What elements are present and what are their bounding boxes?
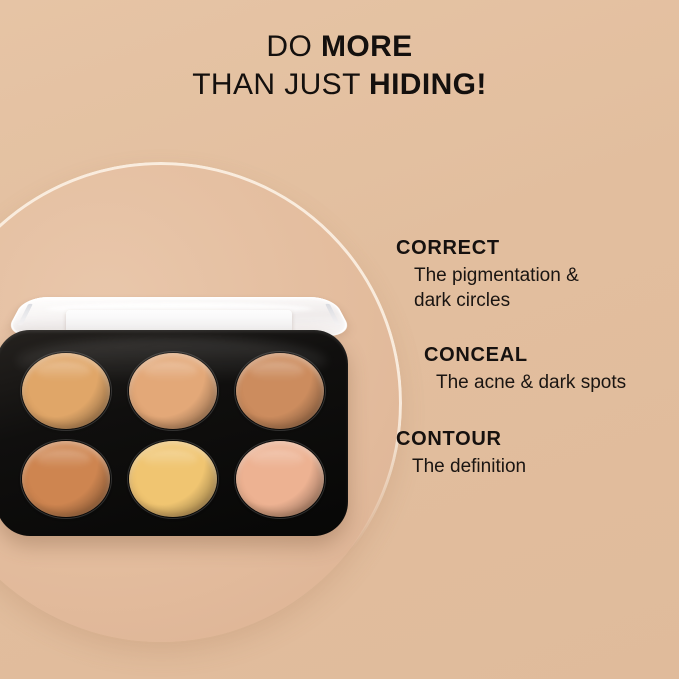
- headline-line-1-plain: DO: [266, 30, 321, 63]
- benefit-conceal: CONCEAL The acne & dark spots: [392, 343, 676, 395]
- headline-line-2-bold: HIDING!: [369, 68, 487, 101]
- palette-pan: [234, 440, 326, 518]
- palette-pan-rim: [127, 351, 219, 431]
- palette-pan: [20, 440, 112, 518]
- benefit-correct-title: CORRECT: [396, 236, 676, 260]
- palette-pan: [127, 352, 219, 430]
- benefit-conceal-description: The acne & dark spots: [424, 370, 676, 395]
- benefit-contour: CONTOUR The definition: [392, 427, 676, 479]
- headline-line-2: THAN JUST HIDING!: [0, 66, 679, 104]
- palette-lid-edge-right: [325, 304, 340, 325]
- benefit-correct-description-line-2: dark circles: [414, 288, 676, 313]
- palette-pan-grid: [20, 352, 326, 518]
- benefit-correct-description: The pigmentation & dark circles: [396, 263, 676, 313]
- palette-pan: [127, 440, 219, 518]
- benefit-conceal-title: CONCEAL: [424, 343, 676, 367]
- headline-line-1: DO MORE: [0, 28, 679, 66]
- palette-pan: [20, 352, 112, 430]
- benefit-list: CORRECT The pigmentation & dark circles …: [392, 236, 676, 479]
- headline-line-2-plain: THAN JUST: [192, 68, 369, 101]
- concealer-palette: [0, 258, 368, 548]
- benefit-correct-description-line-1: The pigmentation &: [414, 263, 676, 288]
- palette-pan-rim: [20, 351, 112, 431]
- benefit-correct: CORRECT The pigmentation & dark circles: [392, 236, 676, 313]
- benefit-contour-description: The definition: [396, 454, 676, 479]
- palette-pan-rim: [127, 439, 219, 519]
- poster-canvas: DO MORE THAN JUST HIDING!: [0, 0, 679, 679]
- palette-pan-rim: [234, 439, 326, 519]
- headline: DO MORE THAN JUST HIDING!: [0, 28, 679, 104]
- palette-pan-rim: [20, 439, 112, 519]
- palette-lid-edge-left: [18, 304, 33, 325]
- palette-pan: [234, 352, 326, 430]
- palette-pan-rim: [234, 351, 326, 431]
- headline-line-1-bold: MORE: [321, 30, 413, 63]
- benefit-contour-title: CONTOUR: [396, 427, 676, 451]
